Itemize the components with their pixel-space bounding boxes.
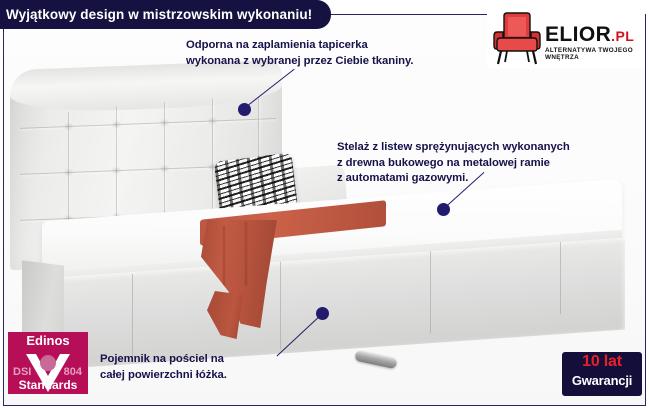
- base-seam: [132, 274, 133, 362]
- tuft-dimple: [161, 166, 168, 171]
- annotation-upholstery-text: Odporna na zaplamienia tapicerka wykonan…: [186, 38, 486, 69]
- base-seam: [560, 242, 561, 314]
- warranty-badge[interactable]: 10 lat Gwarancji: [562, 352, 642, 396]
- edinos-badge-left-code: DSI: [13, 366, 31, 378]
- brand-logo[interactable]: ELIOR.PL ALTERNATYWA TWOJEGO WNĘTRZA: [487, 10, 645, 68]
- brand-logo-wordmark: ELIOR.PL: [545, 23, 634, 47]
- armchair-icon: [493, 12, 541, 66]
- annotation-frame-dot[interactable]: [437, 203, 450, 216]
- base-seam: [280, 262, 281, 350]
- base-seam: [430, 251, 431, 333]
- tuft-dimple: [65, 170, 72, 175]
- tuft-seam: [20, 118, 276, 129]
- tuft-dimple: [161, 120, 168, 125]
- annotation-storage-text: Pojemnik na pościel na całej powierzchni…: [100, 352, 330, 383]
- tuft-dimple: [113, 122, 120, 127]
- throw-fold: [245, 222, 247, 286]
- bed-illustration: [4, 15, 645, 405]
- edinos-badge-subtitle: Standards: [8, 378, 88, 392]
- edinos-badge-right-code: 804: [64, 366, 82, 378]
- warranty-badge-label: Gwarancji: [562, 373, 642, 388]
- annotation-storage-dot[interactable]: [316, 307, 329, 320]
- tuft-dimple: [113, 168, 120, 173]
- brand-logo-tagline: ALTERNATYWA TWOJEGO WNĘTRZA: [545, 47, 646, 61]
- tuft-dimple: [209, 118, 216, 123]
- brand-logo-domain: .PL: [611, 28, 634, 44]
- bed-leg: [354, 350, 397, 369]
- annotation-upholstery-dot[interactable]: [238, 103, 251, 116]
- product-infographic: Odporna na zaplamienia tapicerka wykonan…: [0, 0, 650, 409]
- header-banner: Wyjątkowy design w mistrzowskim wykonani…: [0, 0, 331, 29]
- tuft-dimple: [65, 124, 72, 129]
- annotation-frame-text: Stelaż z listew sprężynujących wykonanyc…: [337, 140, 647, 187]
- warranty-badge-years: 10 lat: [562, 353, 642, 371]
- brand-logo-name: ELIOR: [545, 23, 611, 46]
- product-photo: [4, 15, 645, 405]
- edinos-standards-badge[interactable]: Edinos DSI 804 Standards: [8, 332, 88, 394]
- edinos-badge-title: Edinos: [8, 333, 88, 348]
- header-banner-text: Wyjątkowy design w mistrzowskim wykonani…: [0, 7, 312, 22]
